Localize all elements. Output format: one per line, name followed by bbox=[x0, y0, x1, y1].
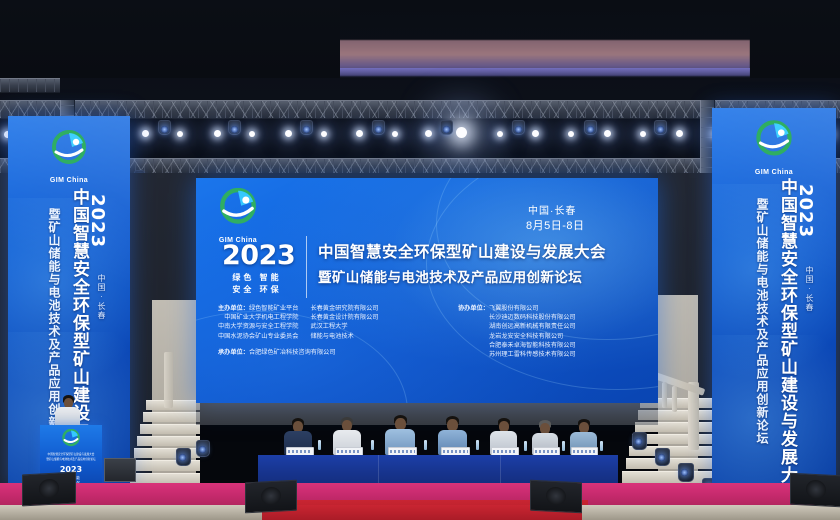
stage-lamp bbox=[604, 130, 611, 137]
stage-lamp bbox=[392, 131, 398, 137]
stair-step bbox=[143, 412, 200, 422]
stage-lamp bbox=[249, 131, 255, 137]
stage-monitor-speaker bbox=[790, 473, 840, 508]
stage-lamp bbox=[321, 131, 327, 137]
moving-head-light bbox=[512, 120, 525, 135]
podium-title-line-2: 暨矿山储能与电池技术及产品应用创新论坛 bbox=[40, 457, 102, 461]
coorg-6: 苏州理工雷科传感技术有限公司 bbox=[458, 350, 576, 359]
podium-speaker bbox=[55, 395, 81, 427]
screen-title-divider bbox=[306, 236, 307, 298]
left-banner-year: 2023 bbox=[87, 194, 108, 248]
undertaker-row: 承办单位：合肥绿色矿冶科技咨询有限公司 bbox=[218, 348, 379, 357]
undertaker-value: 合肥绿色矿冶科技咨询有限公司 bbox=[249, 349, 336, 356]
stage-lamp bbox=[356, 130, 363, 137]
screen-logo: 2023 GIM China bbox=[210, 188, 266, 244]
gim-china-logo-icon bbox=[43, 130, 95, 172]
stage-monitor-speaker bbox=[530, 480, 582, 514]
floor-moving-head-light bbox=[655, 448, 670, 466]
stage-lamp bbox=[214, 130, 221, 137]
stage-lamp bbox=[425, 130, 432, 137]
coorg-row-1: 协办单位：飞翼股份有限公司 bbox=[458, 304, 576, 313]
host-left-2: 中国矿业大学机电工程学院 bbox=[218, 313, 298, 322]
left-banner-location: 中国·长春 bbox=[97, 274, 105, 320]
water-bottle bbox=[424, 440, 427, 450]
undertaker-label: 承办单位： bbox=[218, 349, 249, 356]
stage-monitor-speaker bbox=[245, 480, 297, 514]
balustrade-right-spindle bbox=[662, 382, 667, 408]
left-banner-logo-text: GIM China bbox=[43, 177, 95, 184]
screen-year-slogan-1: 绿色 智能 bbox=[218, 272, 296, 284]
screen-year: 2023 bbox=[222, 240, 295, 271]
host-right-4: 储能与电池技术 bbox=[310, 332, 378, 341]
host-grid: 主办单位：绿色智能矿业平台 长春黄金研究院有限公司 中国矿业大学机电工程学院 长… bbox=[218, 304, 379, 341]
stage-lamp bbox=[568, 131, 574, 137]
screen-title-line-1: 中国智慧安全环保型矿山建设与发展大会 bbox=[318, 240, 606, 262]
stage-lamp bbox=[177, 131, 183, 137]
coorg-3: 湖南创远高新机械有限责任公司 bbox=[458, 322, 576, 331]
screen-location: 中国·长春 bbox=[528, 202, 576, 217]
ceiling-beam-left bbox=[0, 0, 340, 78]
right-led-banner: GIM China 2023 中国·长春 中国智慧安全环保型矿山建设与发展大会 … bbox=[712, 108, 836, 486]
coorg-2: 长沙迪迈数码科技股份有限公司 bbox=[458, 313, 576, 322]
podium-title-line-1: 中国智慧安全环保型矿山建设与发展大会 bbox=[40, 452, 102, 456]
coorg-4: 龙岩龙安安全科技有限公司 bbox=[458, 332, 576, 341]
host-left-3: 中南大学资源与安全工程学院 bbox=[218, 322, 298, 331]
screen-title-line-2: 暨矿山储能与电池技术及产品应用创新论坛 bbox=[318, 266, 582, 286]
upper-ribbon-glow bbox=[330, 68, 750, 78]
floor-moving-head-light bbox=[196, 440, 210, 457]
stair-step bbox=[140, 424, 200, 434]
moving-head-light bbox=[440, 120, 453, 135]
right-banner-title-sub: 暨矿山储能与电池技术及产品应用创新论坛 bbox=[756, 198, 768, 445]
stair-step bbox=[137, 436, 200, 446]
moving-head-light bbox=[584, 120, 597, 135]
host-left-4: 中国水泥协会矿山专业委员会 bbox=[218, 332, 298, 341]
right-banner-logo-text: GIM China bbox=[747, 169, 801, 176]
host-label: 主办单位： bbox=[218, 305, 249, 312]
right-banner-title-main: 中国智慧安全环保型矿山建设与发展大会 bbox=[779, 178, 796, 486]
water-bottle bbox=[318, 440, 321, 450]
water-bottle bbox=[562, 441, 565, 451]
main-led-screen: 2023 GIM China 2023 绿色 智能 安全 环保 中国智慧安全环保… bbox=[196, 178, 658, 403]
right-banner-logo: GIM China bbox=[747, 120, 801, 176]
gim-china-logo-icon bbox=[210, 188, 266, 232]
water-bottle bbox=[476, 440, 479, 450]
stair-step bbox=[146, 400, 200, 410]
stage-lamp bbox=[285, 130, 292, 137]
balustrade-right-spindle bbox=[672, 386, 677, 412]
host-right-1: 长春黄金研究院有限公司 bbox=[310, 304, 378, 313]
screen-organizers-left: 主办单位：绿色智能矿业平台 长春黄金研究院有限公司 中国矿业大学机电工程学院 长… bbox=[218, 304, 379, 357]
host-left-1: 绿色智能矿业平台 bbox=[249, 305, 299, 312]
stage-equipment-case bbox=[104, 458, 136, 482]
moving-head-light bbox=[228, 120, 241, 135]
stage-lamp bbox=[640, 131, 646, 137]
stage-lamp bbox=[676, 130, 683, 137]
right-banner-location: 中国·长春 bbox=[805, 266, 813, 312]
ceiling-beam-right bbox=[750, 0, 840, 78]
screen-dates: 8月5日-8日 bbox=[526, 217, 585, 233]
moving-head-light bbox=[158, 120, 171, 135]
host-right-2: 长春黄金设计院有限公司 bbox=[310, 313, 378, 322]
floor-moving-head-light bbox=[176, 448, 191, 466]
right-banner-year: 2023 bbox=[795, 184, 816, 238]
water-bottle bbox=[524, 441, 527, 451]
floor-moving-head-light bbox=[632, 432, 647, 450]
floor-moving-head-light bbox=[678, 463, 694, 482]
gim-china-logo-icon bbox=[58, 429, 84, 450]
host-label-row: 主办单位：绿色智能矿业平台 bbox=[218, 304, 298, 313]
stage-monitor-speaker bbox=[22, 472, 76, 507]
screen-year-slogan-2: 安全 环保 bbox=[218, 284, 296, 296]
gim-china-logo-icon bbox=[747, 120, 801, 164]
water-bottle bbox=[600, 441, 603, 451]
coorganizer-label: 协办单位： bbox=[458, 305, 489, 312]
stage-lamp bbox=[142, 130, 149, 137]
truss-vertical-left-brace bbox=[0, 78, 60, 93]
moving-head-light bbox=[654, 120, 667, 135]
stage-lamp-bright bbox=[456, 127, 467, 138]
left-banner-logo: GIM China bbox=[43, 130, 95, 184]
stage-lamp bbox=[532, 130, 539, 137]
stage-photograph: GIM China 2023 中国·长春 中国智慧安全环保型矿山建设与发展大会 … bbox=[0, 0, 840, 520]
water-bottle bbox=[371, 440, 374, 450]
stage-lamp bbox=[497, 131, 503, 137]
balustrade-left bbox=[164, 352, 173, 408]
stair-step bbox=[626, 458, 720, 469]
moving-head-light bbox=[372, 120, 385, 135]
coorg-5: 合肥泰禾卓海智能科技有限公司 bbox=[458, 341, 576, 350]
screen-organizers-right: 协办单位：飞翼股份有限公司 长沙迪迈数码科技股份有限公司 湖南创远高新机械有限责… bbox=[458, 304, 576, 359]
coorg-1: 飞翼股份有限公司 bbox=[489, 305, 539, 312]
moving-head-light bbox=[300, 120, 313, 135]
host-right-3: 武汉工程大学 bbox=[310, 322, 378, 331]
